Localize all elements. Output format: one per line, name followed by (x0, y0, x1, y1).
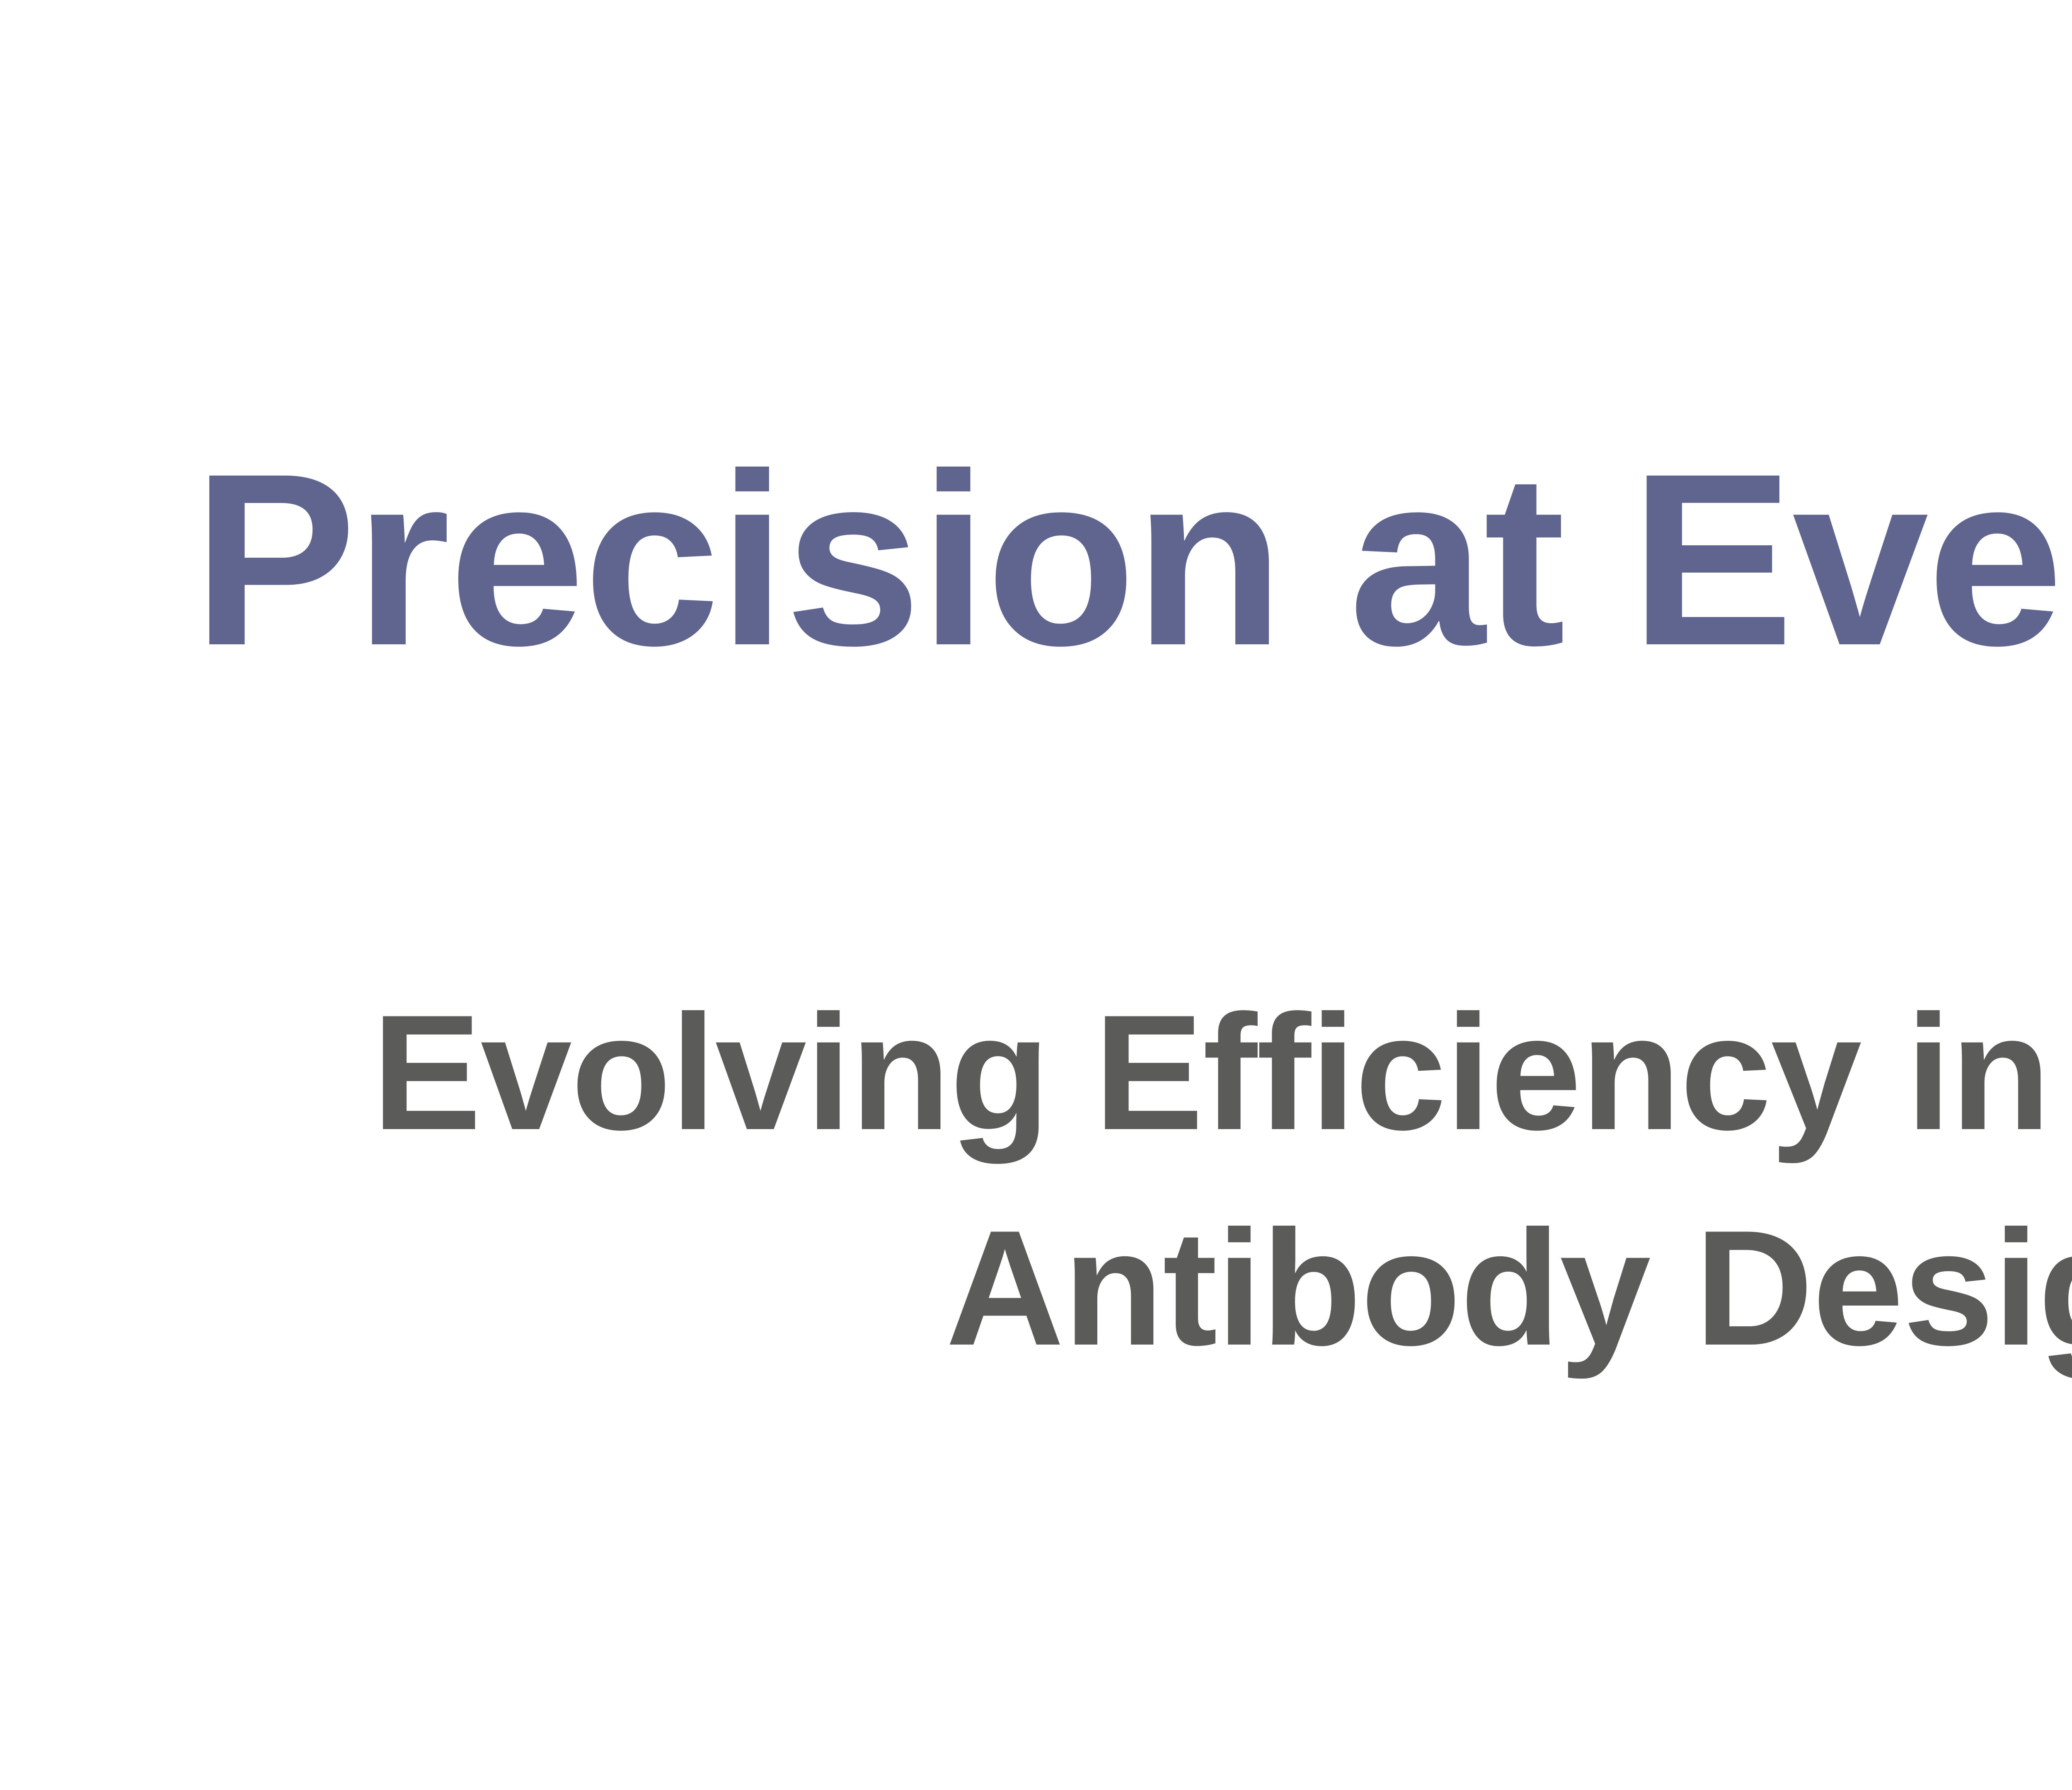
page-title: Precision at Every Scale (0, 437, 2072, 682)
slide-canvas: Precision at Every Scale Evolving Effici… (0, 0, 2072, 1790)
subtitle-container: Evolving Efficiency in AI-Driven Antibod… (0, 965, 2072, 1396)
subtitle-line-2: Antibody Design (0, 1180, 2072, 1396)
subtitle-line-1: Evolving Efficiency in AI-Driven (0, 965, 2072, 1180)
title-container: Precision at Every Scale (0, 0, 2072, 682)
